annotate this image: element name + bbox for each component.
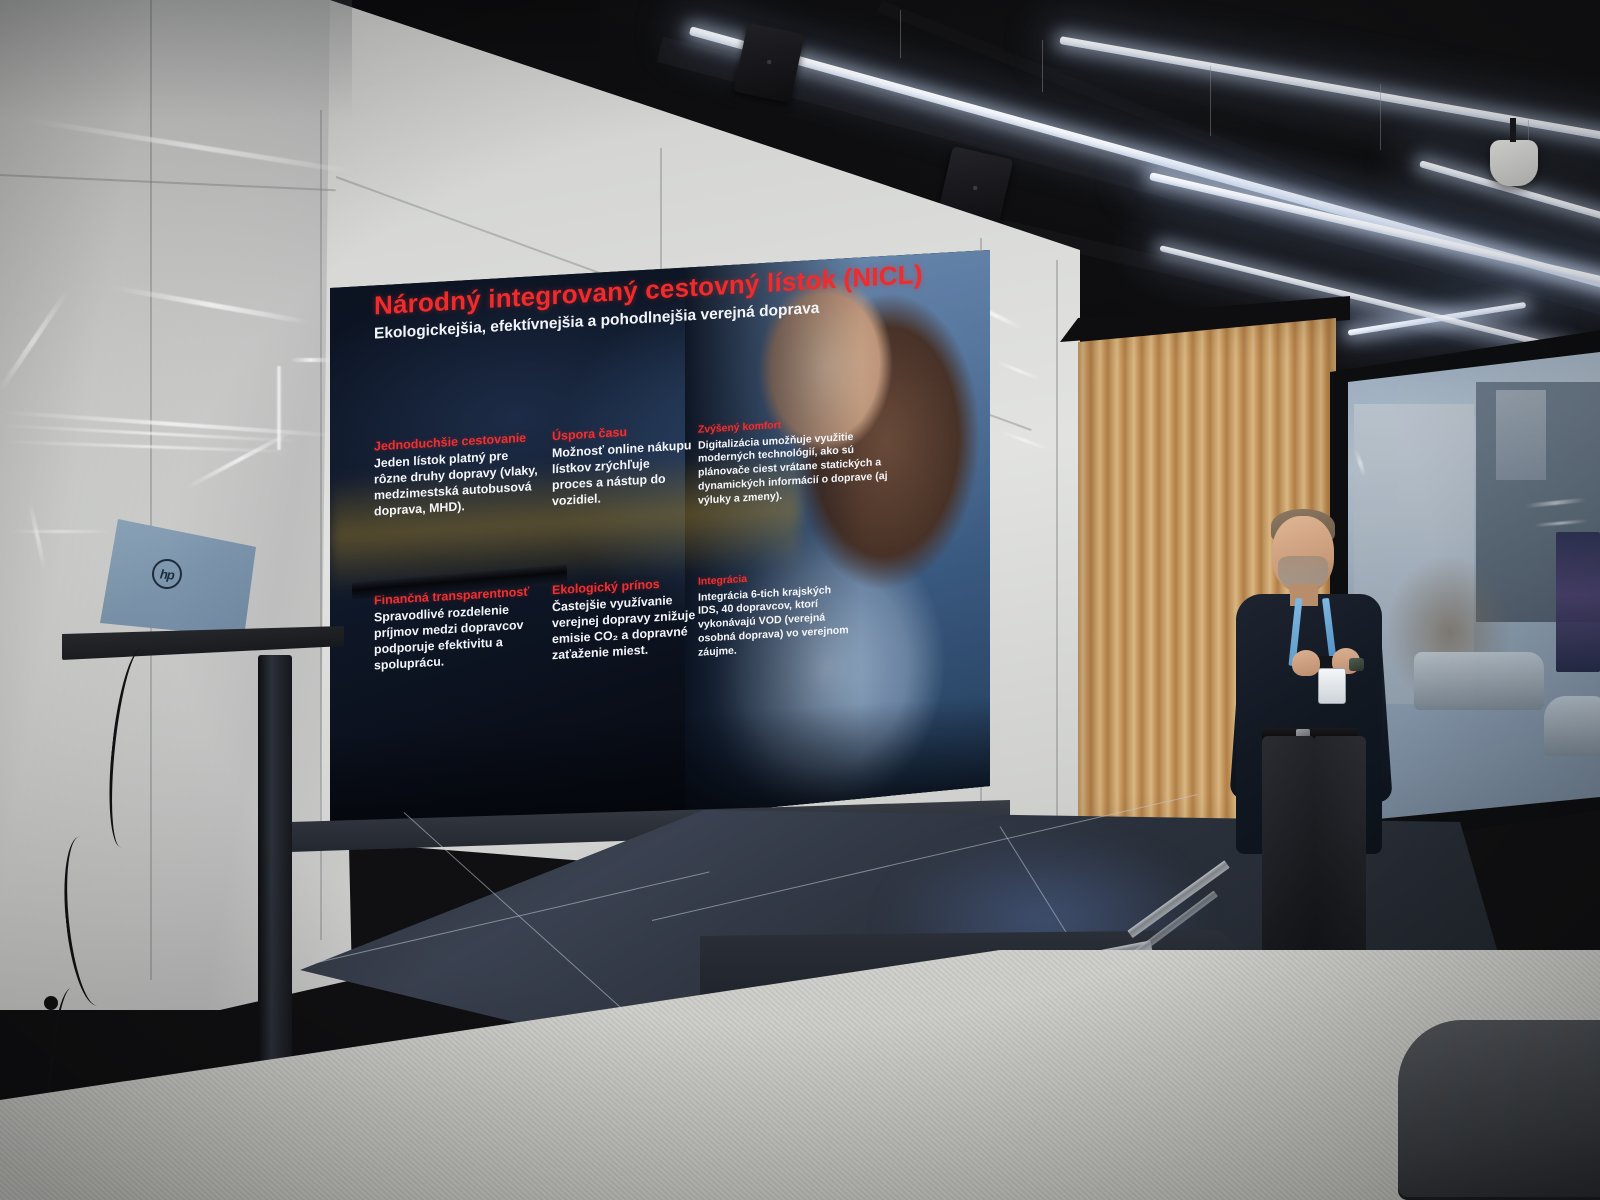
ceiling-wire xyxy=(900,10,901,58)
wall-seam xyxy=(150,0,152,980)
lectern-column xyxy=(258,655,292,1110)
column-body: Digitalizácia umožňuje využitie modernýc… xyxy=(698,428,898,508)
slide-column-2: Úspora času Možnosť online nákupu lístko… xyxy=(552,421,692,510)
slide-column-3: Zvýšený komfort Digitalizácia umožňuje v… xyxy=(698,413,898,508)
cable-clip xyxy=(44,996,58,1010)
slide-column-5: Ekologický prínos Častejšie využívanie v… xyxy=(552,575,697,664)
wall-shading xyxy=(0,0,352,120)
ceiling-wire xyxy=(1380,84,1381,150)
column-body: Častejšie využívanie verejnej dopravy zn… xyxy=(552,592,697,664)
name-badge xyxy=(1318,668,1346,704)
building-facade xyxy=(1496,390,1546,480)
slide: Národný integrovaný cestovný lístok (NIC… xyxy=(330,208,990,854)
column-body: Jeden lístok platný pre rôzne druhy dopr… xyxy=(374,447,539,520)
ceiling-wire xyxy=(1210,66,1211,136)
car xyxy=(1544,696,1600,756)
column-body: Možnosť online nákupu lístkov zrýchľuje … xyxy=(552,438,692,510)
glossy-wall-left xyxy=(0,0,352,1010)
car xyxy=(1414,652,1544,710)
street-poster xyxy=(1556,532,1600,672)
ceiling-wire xyxy=(1042,40,1043,92)
wall-seam xyxy=(1056,260,1058,860)
wristwatch xyxy=(1349,658,1364,671)
photo-scene: Národný integrovaný cestovný lístok (NIC… xyxy=(0,0,1600,1200)
presenter-left-hand xyxy=(1292,650,1320,676)
column-body: Integrácia 6-tich krajských IDS, 40 dopr… xyxy=(698,583,853,661)
slide-column-4: Finančná transparentnosť Spravodlivé roz… xyxy=(374,584,539,674)
presentation-screen: Národný integrovaný cestovný lístok (NIC… xyxy=(330,250,990,850)
column-body: Spravodlivé rozdelenie príjmov medzi dop… xyxy=(374,601,539,674)
wall-reflection xyxy=(10,530,110,533)
slide-column-6: Integrácia Integrácia 6-tich krajských I… xyxy=(698,568,853,660)
pendant-speaker xyxy=(1490,140,1538,186)
foreground-table xyxy=(1398,1020,1600,1200)
slide-column-1: Jednoduchšie cestovanie Jeden lístok pla… xyxy=(374,430,539,520)
wall-reflection xyxy=(290,358,332,362)
wall-seam xyxy=(320,110,322,940)
